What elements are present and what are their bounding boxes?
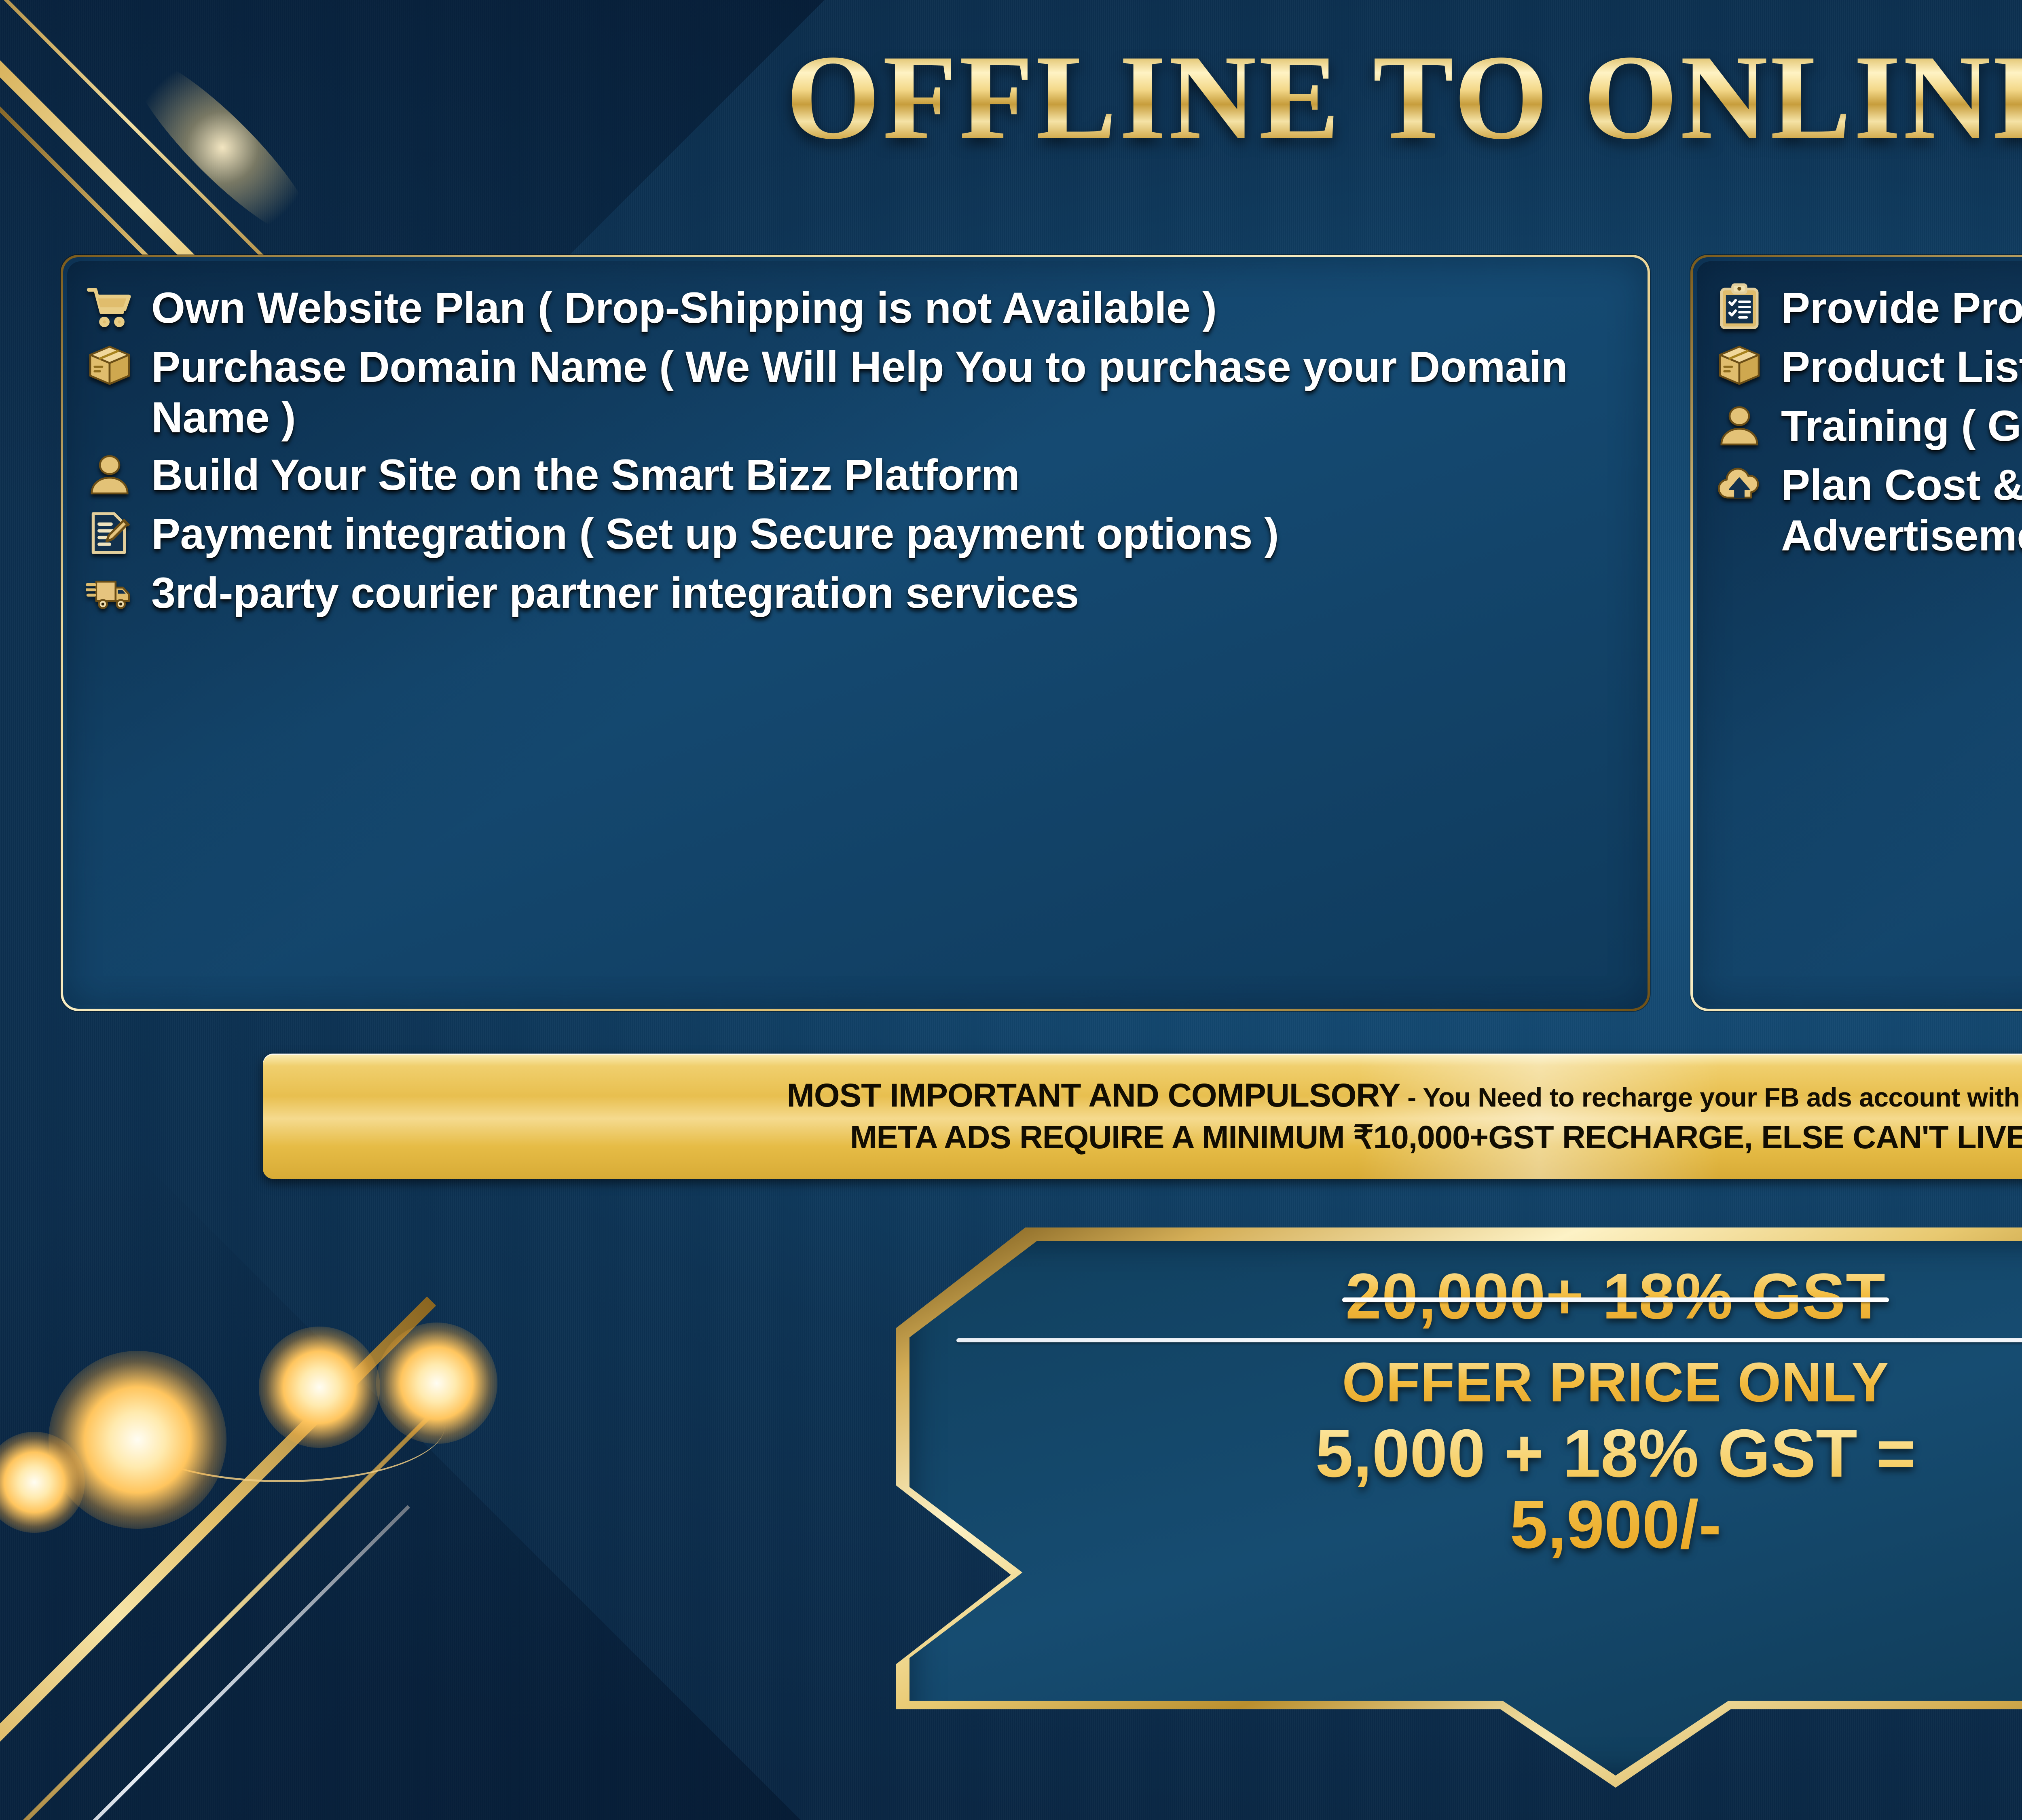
- feature-label: Purchase Domain Name ( We Will Help You …: [151, 338, 1629, 443]
- diagonal-line-bottom-left-1: [0, 1297, 436, 1820]
- offer-price-value: 5,000 + 18% GST = 5,900/-: [1316, 1418, 1916, 1560]
- user-person-icon: [82, 446, 137, 502]
- light-string-wire: [121, 1369, 445, 1482]
- features-panel-right: Provide Product Info ( Client provides p…: [1690, 255, 2022, 1011]
- feature-row: Payment integration ( Set up Secure paym…: [82, 505, 1629, 561]
- offer-price-line-2: 5,900/-: [1316, 1489, 1916, 1560]
- feature-row: Purchase Domain Name ( We Will Help You …: [82, 338, 1629, 443]
- feature-label: Product Listing ( We will List 20 produc…: [1781, 338, 2022, 392]
- badge-content: 20,000+ 18% GST OFFER PRICE ONLY 5,000 +…: [896, 1227, 2022, 1788]
- feature-row: Product Listing ( We will List 20 produc…: [1711, 338, 2022, 394]
- feature-row: 3rd-party courier partner integration se…: [82, 564, 1629, 620]
- features-panel-left: Own Website Plan ( Drop-Shipping is not …: [61, 255, 1650, 1011]
- notice-line-1: MOST IMPORTANT AND COMPULSORY - You Need…: [787, 1077, 2022, 1114]
- notice-line-1-strong: MOST IMPORTANT AND COMPULSORY: [787, 1077, 1400, 1114]
- feature-row: Provide Product Info ( Client provides p…: [1711, 279, 2022, 335]
- light-orb-4: [0, 1432, 85, 1533]
- user-person-icon: [1711, 397, 1767, 453]
- feature-label: Build Your Site on the Smart Bizz Platfo…: [151, 446, 1019, 500]
- light-orb-3: [376, 1323, 497, 1444]
- feature-label: Payment integration ( Set up Secure paym…: [151, 505, 1279, 559]
- package-box-icon: [1711, 338, 1767, 394]
- shopping-cart-icon: [82, 279, 137, 335]
- feature-label: Provide Product Info ( Client provides p…: [1781, 279, 2022, 333]
- feature-row: Training ( Get training for adding more …: [1711, 397, 2022, 453]
- price-badge: 20,000+ 18% GST OFFER PRICE ONLY 5,000 +…: [896, 1227, 2022, 1788]
- compulsory-notice-banner: MOST IMPORTANT AND COMPULSORY - You Need…: [263, 1054, 2022, 1179]
- diagonal-line-bottom-left-3: [0, 1505, 410, 1820]
- feature-row: Own Website Plan ( Drop-Shipping is not …: [82, 279, 1629, 335]
- clipboard-checklist-icon: [1711, 279, 1767, 335]
- light-orb-1: [49, 1351, 226, 1529]
- light-orb-2: [259, 1327, 380, 1448]
- feature-label: Plan Cost & Ads ( 5,000+ tax ( Plan Fee …: [1781, 456, 2022, 561]
- badge-divider: [956, 1338, 2022, 1342]
- offer-price-line-1: 5,000 + 18% GST =: [1316, 1418, 1916, 1489]
- notice-line-1-rest: - You Need to recharge your FB ads accou…: [1400, 1082, 2022, 1112]
- page-title: OFFLINE TO ONLINE PLAN: [0, 36, 2022, 158]
- offer-price-label: OFFER PRICE ONLY: [1342, 1354, 1889, 1410]
- corner-shade-bottom-left: [0, 1141, 922, 1820]
- feature-row: Plan Cost & Ads ( 5,000+ tax ( Plan Fee …: [1711, 456, 2022, 561]
- diagonal-line-bottom-left-2: [0, 1399, 447, 1820]
- feature-row: Build Your Site on the Smart Bizz Platfo…: [82, 446, 1629, 502]
- document-edit-icon: [82, 505, 137, 561]
- feature-label: Own Website Plan ( Drop-Shipping is not …: [151, 279, 1217, 333]
- cloud-upload-icon: [1711, 456, 1767, 512]
- delivery-truck-icon: [82, 564, 137, 620]
- package-box-icon: [82, 338, 137, 394]
- feature-label: Training ( Get training for adding more …: [1781, 397, 2022, 451]
- promo-poster: OFFLINE TO ONLINE PLAN Own Website Plan …: [0, 0, 2022, 1820]
- original-price-strikethrough: 20,000+ 18% GST: [1345, 1264, 1886, 1329]
- feature-label: 3rd-party courier partner integration se…: [151, 564, 1079, 618]
- notice-line-2: META ADS REQUIRE A MINIMUM ₹10,000+GST R…: [850, 1120, 2022, 1155]
